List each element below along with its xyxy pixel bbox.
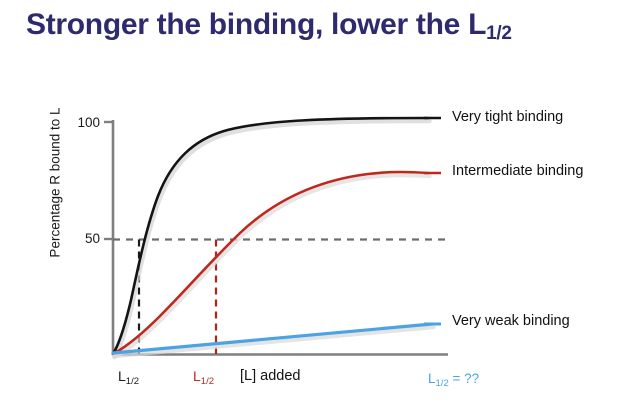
l-half-blue-suffix: = ??: [449, 371, 479, 386]
l-half-red-subscript: 1/2: [201, 376, 214, 387]
slide-canvas: Stronger the binding, lower the L1/2: [0, 0, 644, 414]
l-half-blue-label: L1/2 = ??: [428, 371, 479, 386]
series-label-very-tight: Very tight binding: [452, 109, 563, 125]
series-label-very-weak: Very weak binding: [452, 313, 570, 329]
chart-plot-area: Percentage R bound to L 100 50 [L] added…: [0, 0, 644, 414]
chart-svg: [0, 0, 644, 414]
l-half-black-label: L1/2: [118, 368, 139, 384]
x-axis-title: [L] added: [240, 368, 300, 384]
l-half-blue-subscript: 1/2: [436, 378, 449, 389]
l-half-red-letter: L: [193, 368, 201, 384]
y-axis-title: Percentage R bound to L: [48, 73, 63, 293]
l-half-red-label: L1/2: [193, 368, 214, 384]
l-half-black-subscript: 1/2: [126, 376, 139, 387]
y-tick-label-50: 50: [60, 231, 100, 246]
l-half-blue-letter: L: [428, 371, 436, 386]
y-tick-label-100: 100: [60, 115, 100, 130]
series-label-intermediate: Intermediate binding: [452, 163, 583, 179]
very-weak-binding-line: [113, 324, 432, 353]
l-half-black-letter: L: [118, 368, 126, 384]
very-weak-line-shadow: [115, 327, 434, 356]
